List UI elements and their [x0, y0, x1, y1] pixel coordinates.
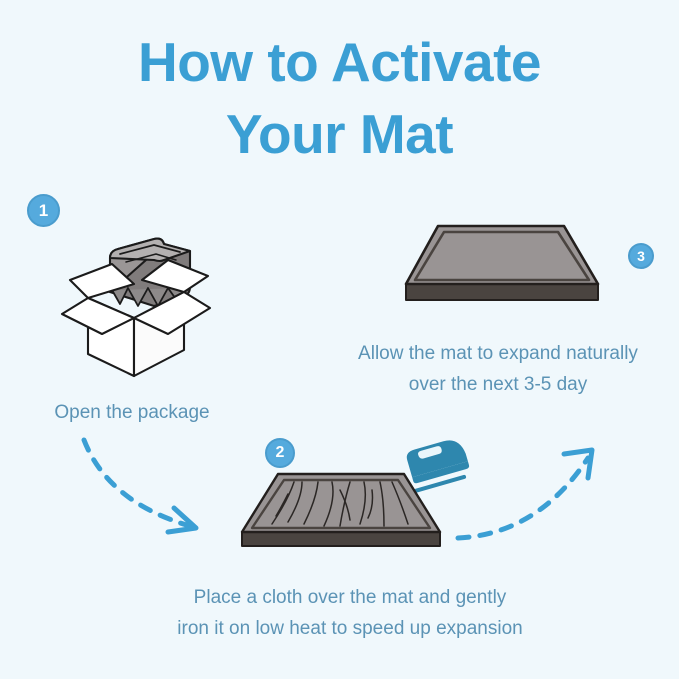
page-title-line-1: How to Activate: [0, 26, 679, 98]
dashed-arrow-down-right-icon: [78, 432, 228, 547]
step-badge-2-label: 2: [267, 440, 293, 466]
wrinkled-mat-icon: [232, 466, 450, 563]
step-badge-3: 3: [628, 243, 654, 269]
step-caption-1: Open the package: [10, 397, 254, 428]
page-title: How to Activate Your Mat: [0, 26, 679, 170]
step-caption-2-line-2: iron it on low heat to speed up expansio…: [110, 613, 590, 644]
step-caption-3-line-1: Allow the mat to expand naturally: [318, 338, 678, 369]
step-badge-3-label: 3: [630, 245, 652, 267]
infographic-root: How to Activate Your Mat 1: [0, 0, 679, 679]
step-caption-2-line-1: Place a cloth over the mat and gently: [110, 582, 590, 613]
step-caption-1-line-1: Open the package: [10, 397, 254, 428]
step-caption-3: Allow the mat to expand naturally over t…: [318, 338, 678, 400]
step-badge-2: 2: [265, 438, 295, 468]
open-box-icon: [50, 218, 220, 383]
step-caption-3-line-2: over the next 3-5 day: [318, 369, 678, 400]
step-caption-2: Place a cloth over the mat and gently ir…: [110, 582, 590, 644]
flat-mat-icon: [398, 218, 606, 319]
dashed-arrow-up-right-icon: [452, 440, 612, 555]
page-title-line-2: Your Mat: [0, 98, 679, 170]
